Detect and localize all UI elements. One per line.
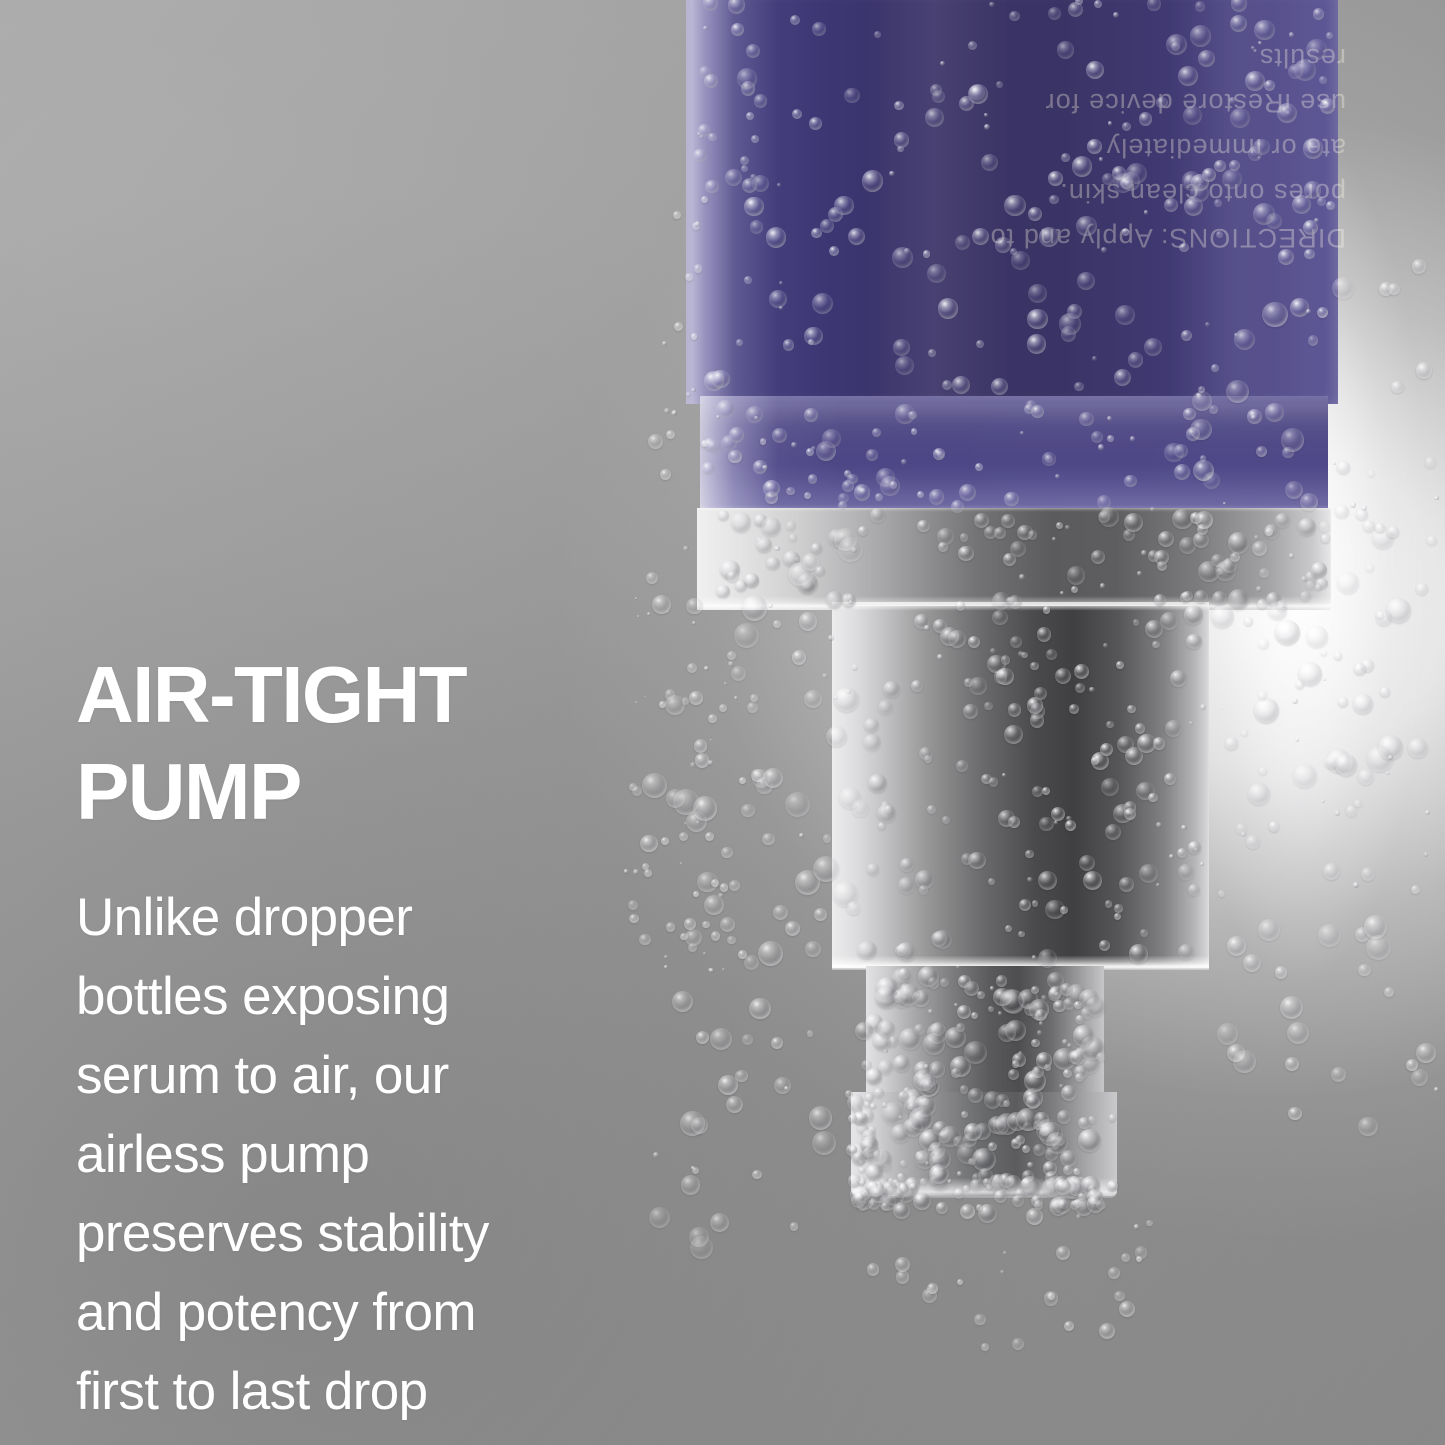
page-title: AIR-TIGHT PUMP (76, 646, 616, 840)
background-highlight-glow (1210, 140, 1445, 1240)
marketing-copy: AIR-TIGHT PUMP Unlike dropper bottles ex… (76, 646, 616, 1431)
body-description: Unlike dropper bottles exposing serum to… (76, 878, 616, 1431)
product-feature-image: DIRECTIONS: Apply and to pores onto clea… (0, 0, 1445, 1445)
